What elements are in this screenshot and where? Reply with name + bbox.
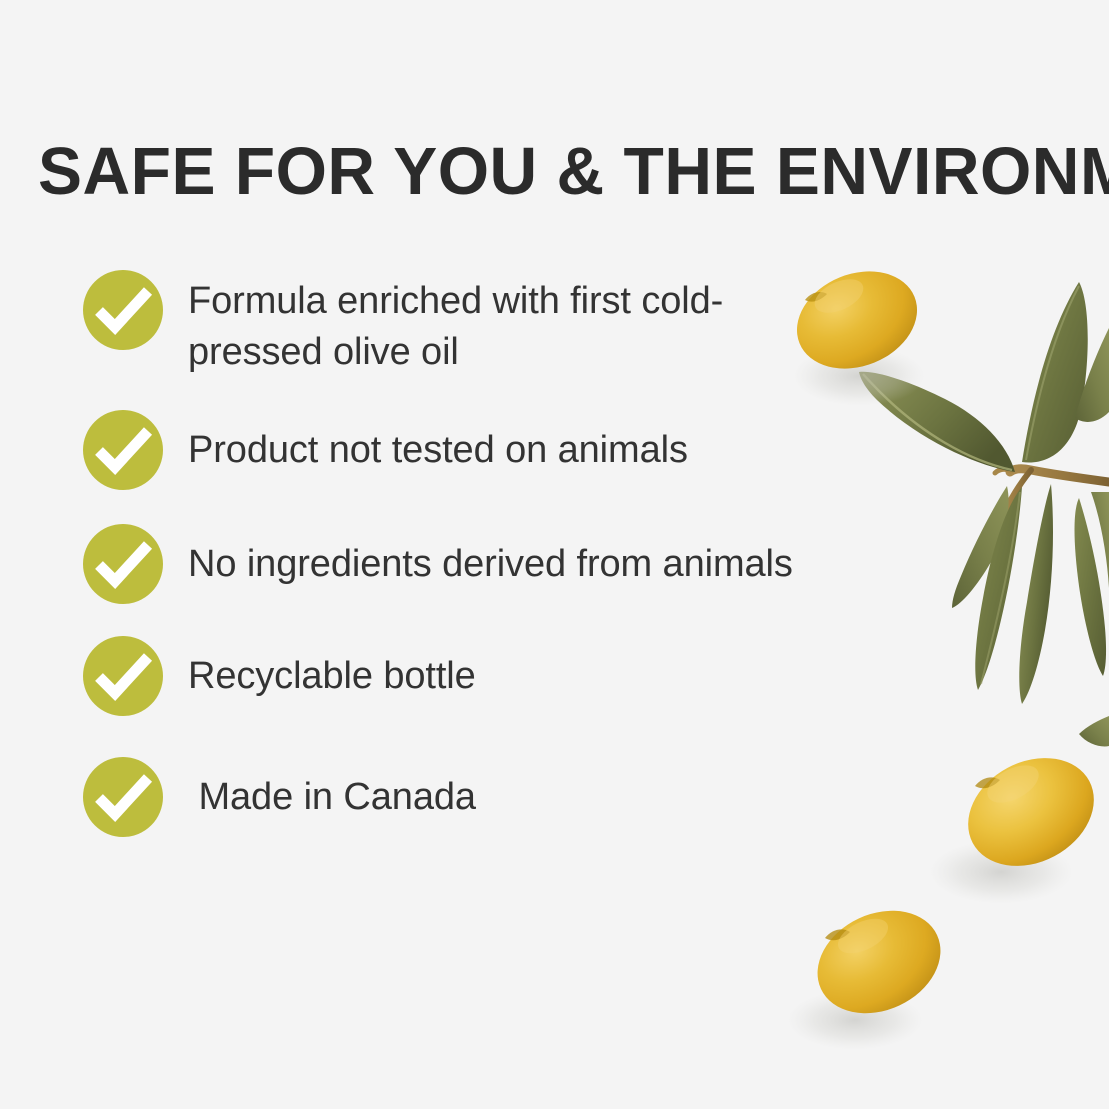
olive-shadow bbox=[929, 840, 1073, 904]
olive-leaf bbox=[975, 487, 1022, 690]
check-circle-icon bbox=[83, 410, 163, 490]
list-item: Formula enriched with first cold-pressed… bbox=[83, 270, 843, 378]
branch-stem-node bbox=[995, 469, 1011, 473]
list-item: No ingredients derived from animals bbox=[83, 524, 843, 604]
branch-stem-offshoot bbox=[1003, 470, 1031, 516]
list-item-label: Formula enriched with first cold-pressed… bbox=[188, 270, 843, 378]
olive-leaf bbox=[859, 372, 1015, 472]
olive-leaf bbox=[1022, 282, 1088, 463]
list-item-label: Product not tested on animals bbox=[188, 410, 843, 476]
olive-leaf bbox=[952, 486, 1009, 608]
olive-fruit bbox=[787, 891, 957, 1050]
list-item-label: Recyclable bottle bbox=[188, 636, 843, 702]
list-item-label: Made in Canada bbox=[188, 757, 843, 823]
list-item: Product not tested on animals bbox=[83, 410, 843, 490]
check-circle-icon bbox=[83, 524, 163, 604]
check-circle-icon bbox=[83, 270, 163, 350]
marketing-poster: SAFE FOR YOU & THE ENVIRONMENT Formula e… bbox=[0, 0, 1109, 1109]
olive-shadow bbox=[787, 990, 923, 1050]
olive-leaf bbox=[1075, 492, 1109, 676]
page-title: SAFE FOR YOU & THE ENVIRONMENT bbox=[38, 136, 1062, 208]
branch-stem bbox=[1010, 469, 1109, 482]
olive-leaf bbox=[1079, 716, 1109, 747]
list-item-label: No ingredients derived from animals bbox=[188, 524, 843, 590]
check-circle-icon bbox=[83, 757, 163, 837]
olive-leaf bbox=[1075, 328, 1109, 422]
check-circle-icon bbox=[83, 636, 163, 716]
list-item: Recyclable bottle bbox=[83, 636, 843, 716]
list-item: Made in Canada bbox=[83, 757, 843, 837]
olive-fruit bbox=[929, 737, 1109, 904]
benefits-list: Formula enriched with first cold-pressed… bbox=[83, 270, 843, 837]
olive-leaf bbox=[1019, 484, 1053, 704]
